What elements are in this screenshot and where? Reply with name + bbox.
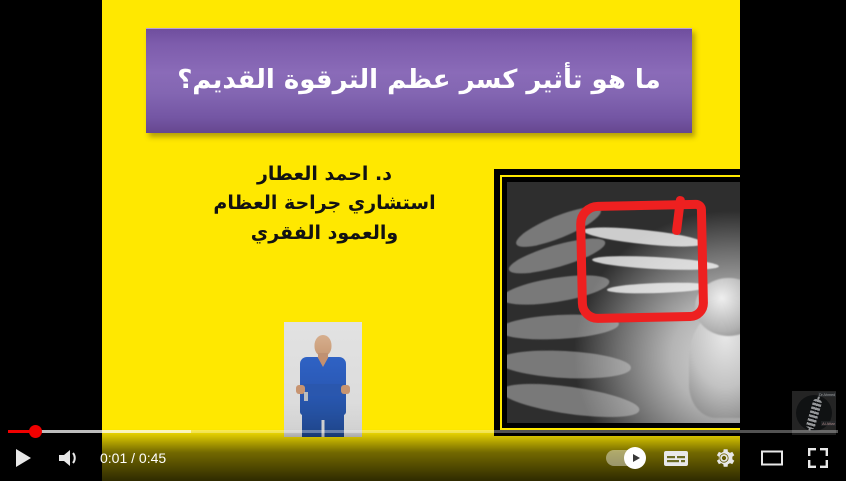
play-button[interactable] bbox=[0, 434, 46, 481]
presenter-name: د. احمد العطار bbox=[212, 160, 437, 189]
video-viewport[interactable]: ما هو تأثير كسر عظم الترقوة القديم؟ د. ا… bbox=[0, 0, 846, 481]
presentation-slide: ما هو تأثير كسر عظم الترقوة القديم؟ د. ا… bbox=[102, 0, 740, 481]
captions-button[interactable] bbox=[652, 434, 700, 481]
autoplay-play-glyph bbox=[633, 454, 640, 462]
slide-title-text: ما هو تأثير كسر عظم الترقوة القديم؟ bbox=[159, 65, 679, 96]
theater-mode-button[interactable] bbox=[748, 434, 796, 481]
xray-frame-inner bbox=[502, 177, 740, 428]
player-controls[interactable]: 0:01 / 0:45 bbox=[0, 429, 846, 481]
settings-button[interactable] bbox=[700, 434, 748, 481]
play-icon bbox=[14, 448, 32, 468]
autoplay-toggle-button[interactable] bbox=[598, 434, 652, 481]
watermark-tag-bottom: Al Attar bbox=[821, 421, 836, 426]
xray-image bbox=[507, 182, 740, 423]
photo-badge bbox=[304, 392, 308, 401]
presenter-info: د. احمد العطار استشاري جراحة العظام والع… bbox=[212, 160, 437, 248]
gear-icon bbox=[712, 446, 736, 470]
xray-frame-accent bbox=[500, 175, 740, 430]
xray-frame bbox=[495, 170, 740, 435]
fullscreen-button[interactable] bbox=[796, 434, 846, 481]
theater-icon bbox=[760, 448, 784, 468]
presenter-title-line-2: والعمود الفقري bbox=[212, 219, 437, 248]
time-display: 0:01 / 0:45 bbox=[92, 450, 176, 466]
fullscreen-icon bbox=[806, 446, 830, 470]
autoplay-knob-icon bbox=[624, 447, 646, 469]
captions-icon bbox=[663, 448, 689, 468]
presenter-photo bbox=[284, 322, 362, 437]
controls-row: 0:01 / 0:45 bbox=[0, 434, 846, 481]
xray-rib bbox=[507, 347, 632, 380]
video-player[interactable]: ما هو تأثير كسر عظم الترقوة القديم؟ د. ا… bbox=[0, 0, 846, 481]
watermark-tag-top: Dr Ahmed bbox=[818, 392, 836, 397]
slide-title-banner: ما هو تأثير كسر عظم الترقوة القديم؟ bbox=[146, 28, 692, 133]
volume-button[interactable] bbox=[46, 434, 92, 481]
presenter-title-line-1: استشاري جراحة العظام bbox=[212, 189, 437, 218]
xray-rib bbox=[507, 377, 641, 423]
autoplay-switch[interactable] bbox=[606, 450, 644, 466]
volume-icon bbox=[57, 447, 81, 469]
photo-hand-right bbox=[341, 385, 350, 394]
logo-vertebrae bbox=[806, 398, 823, 429]
xray-annotation-box bbox=[575, 200, 708, 323]
